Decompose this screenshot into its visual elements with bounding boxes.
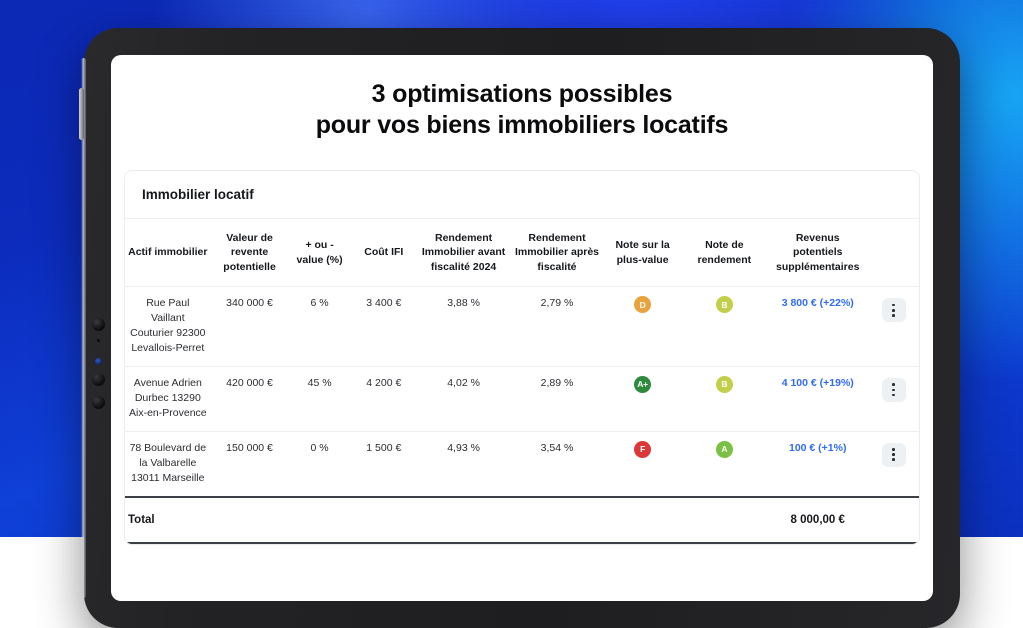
cell-asset: Rue Paul Vaillant Couturier 92300 Levall… — [125, 287, 211, 367]
cell-plus-minus-value: 0 % — [288, 431, 350, 496]
cell-asset: 78 Boulevard de la Valbarelle 13011 Mars… — [125, 431, 211, 496]
column-header-ifi-cost: Coût IFI — [351, 219, 417, 287]
cell-yield-after-tax: 2,89 % — [510, 367, 603, 432]
cell-ifi-cost: 1 500 € — [351, 431, 417, 496]
cell-plus-minus-value: 6 % — [288, 287, 350, 367]
asset-table: Actif immobilier Valeur de revente poten… — [125, 219, 919, 544]
cell-yield-before-tax: 4,93 % — [417, 431, 510, 496]
column-header-plus-value-grade: Note sur la plus-value — [604, 219, 682, 287]
cell-row-actions — [868, 367, 919, 432]
yield-grade-badge: A — [716, 441, 733, 458]
cell-yield-before-tax: 4,02 % — [417, 367, 510, 432]
page-title-line-2: pour vos biens immobiliers locatifs — [111, 110, 933, 141]
table-header: Actif immobilier Valeur de revente poten… — [125, 219, 919, 287]
cell-yield-before-tax: 3,88 % — [417, 287, 510, 367]
column-header-yield-grade: Note de rendement — [682, 219, 768, 287]
total-actions-spacer — [868, 497, 919, 543]
cell-extra-income: 100 € (+1%) — [767, 431, 868, 496]
page-title: 3 optimisations possibles pour vos biens… — [111, 55, 933, 140]
extra-income-value: 4 100 € (+19%) — [782, 377, 854, 389]
row-menu-icon[interactable] — [882, 378, 906, 402]
cell-yield-grade: B — [682, 367, 768, 432]
column-header-resale-value: Valeur de revente potentielle — [211, 219, 289, 287]
plus-value-grade-badge: D — [634, 296, 651, 313]
extra-income-value: 100 € (+1%) — [789, 442, 847, 454]
table-row: Rue Paul Vaillant Couturier 92300 Levall… — [125, 287, 919, 367]
row-menu-icon[interactable] — [882, 443, 906, 467]
cell-plus-minus-value: 45 % — [288, 367, 350, 432]
table-row: Avenue Adrien Durbec 13290 Aix-en-Proven… — [125, 367, 919, 432]
cell-resale-value: 150 000 € — [211, 431, 289, 496]
total-spacer — [682, 497, 768, 543]
cell-plus-value-grade: F — [604, 431, 682, 496]
card-header: Immobilier locatif — [125, 171, 919, 219]
table-header-row: Actif immobilier Valeur de revente poten… — [125, 219, 919, 287]
speaker-hole-icon — [92, 373, 105, 386]
yield-grade-badge: B — [716, 296, 733, 313]
table-footer: Total 8 000,00 € — [125, 497, 919, 543]
cell-row-actions — [868, 431, 919, 496]
cell-row-actions — [868, 287, 919, 367]
card-title: Immobilier locatif — [142, 187, 902, 202]
cell-plus-value-grade: D — [604, 287, 682, 367]
page-title-line-1: 3 optimisations possibles — [111, 79, 933, 110]
cell-yield-grade: A — [682, 431, 768, 496]
cell-extra-income: 3 800 € (+22%) — [767, 287, 868, 367]
cell-yield-after-tax: 3,54 % — [510, 431, 603, 496]
total-value: 8 000,00 € — [767, 497, 868, 543]
extra-income-value: 3 800 € (+22%) — [782, 297, 854, 309]
column-header-yield-before-tax: Rendement Immobilier avant fiscalité 202… — [417, 219, 510, 287]
speaker-hole-icon — [92, 396, 105, 409]
column-header-actions — [868, 219, 919, 287]
column-header-asset: Actif immobilier — [125, 219, 211, 287]
column-header-extra-income: Revenus potentiels supplémentaires — [767, 219, 868, 287]
cell-yield-grade: B — [682, 287, 768, 367]
cell-resale-value: 340 000 € — [211, 287, 289, 367]
cell-asset: Avenue Adrien Durbec 13290 Aix-en-Proven… — [125, 367, 211, 432]
ambient-sensor-icon — [95, 358, 102, 365]
volume-button[interactable] — [79, 88, 84, 140]
column-header-yield-after-tax: Rendement Immobilier après fiscalité — [510, 219, 603, 287]
plus-value-grade-badge: A+ — [634, 376, 651, 393]
microphone-icon — [97, 339, 100, 342]
total-label: Total — [125, 497, 682, 543]
cell-ifi-cost: 4 200 € — [351, 367, 417, 432]
cell-ifi-cost: 3 400 € — [351, 287, 417, 367]
tablet-screen: 3 optimisations possibles pour vos biens… — [111, 55, 933, 601]
cell-yield-after-tax: 2,79 % — [510, 287, 603, 367]
cell-plus-value-grade: A+ — [604, 367, 682, 432]
rental-property-card: Immobilier locatif Actif immobilier Vale… — [124, 170, 920, 545]
front-camera-icon — [92, 318, 105, 331]
column-header-plus-minus-value: + ou - value (%) — [288, 219, 350, 287]
table-row: 78 Boulevard de la Valbarelle 13011 Mars… — [125, 431, 919, 496]
cell-resale-value: 420 000 € — [211, 367, 289, 432]
yield-grade-badge: B — [716, 376, 733, 393]
tablet-device-frame: 3 optimisations possibles pour vos biens… — [84, 28, 960, 628]
plus-value-grade-badge: F — [634, 441, 651, 458]
table-body: Rue Paul Vaillant Couturier 92300 Levall… — [125, 287, 919, 497]
row-menu-icon[interactable] — [882, 298, 906, 322]
total-row: Total 8 000,00 € — [125, 497, 919, 543]
cell-extra-income: 4 100 € (+19%) — [767, 367, 868, 432]
